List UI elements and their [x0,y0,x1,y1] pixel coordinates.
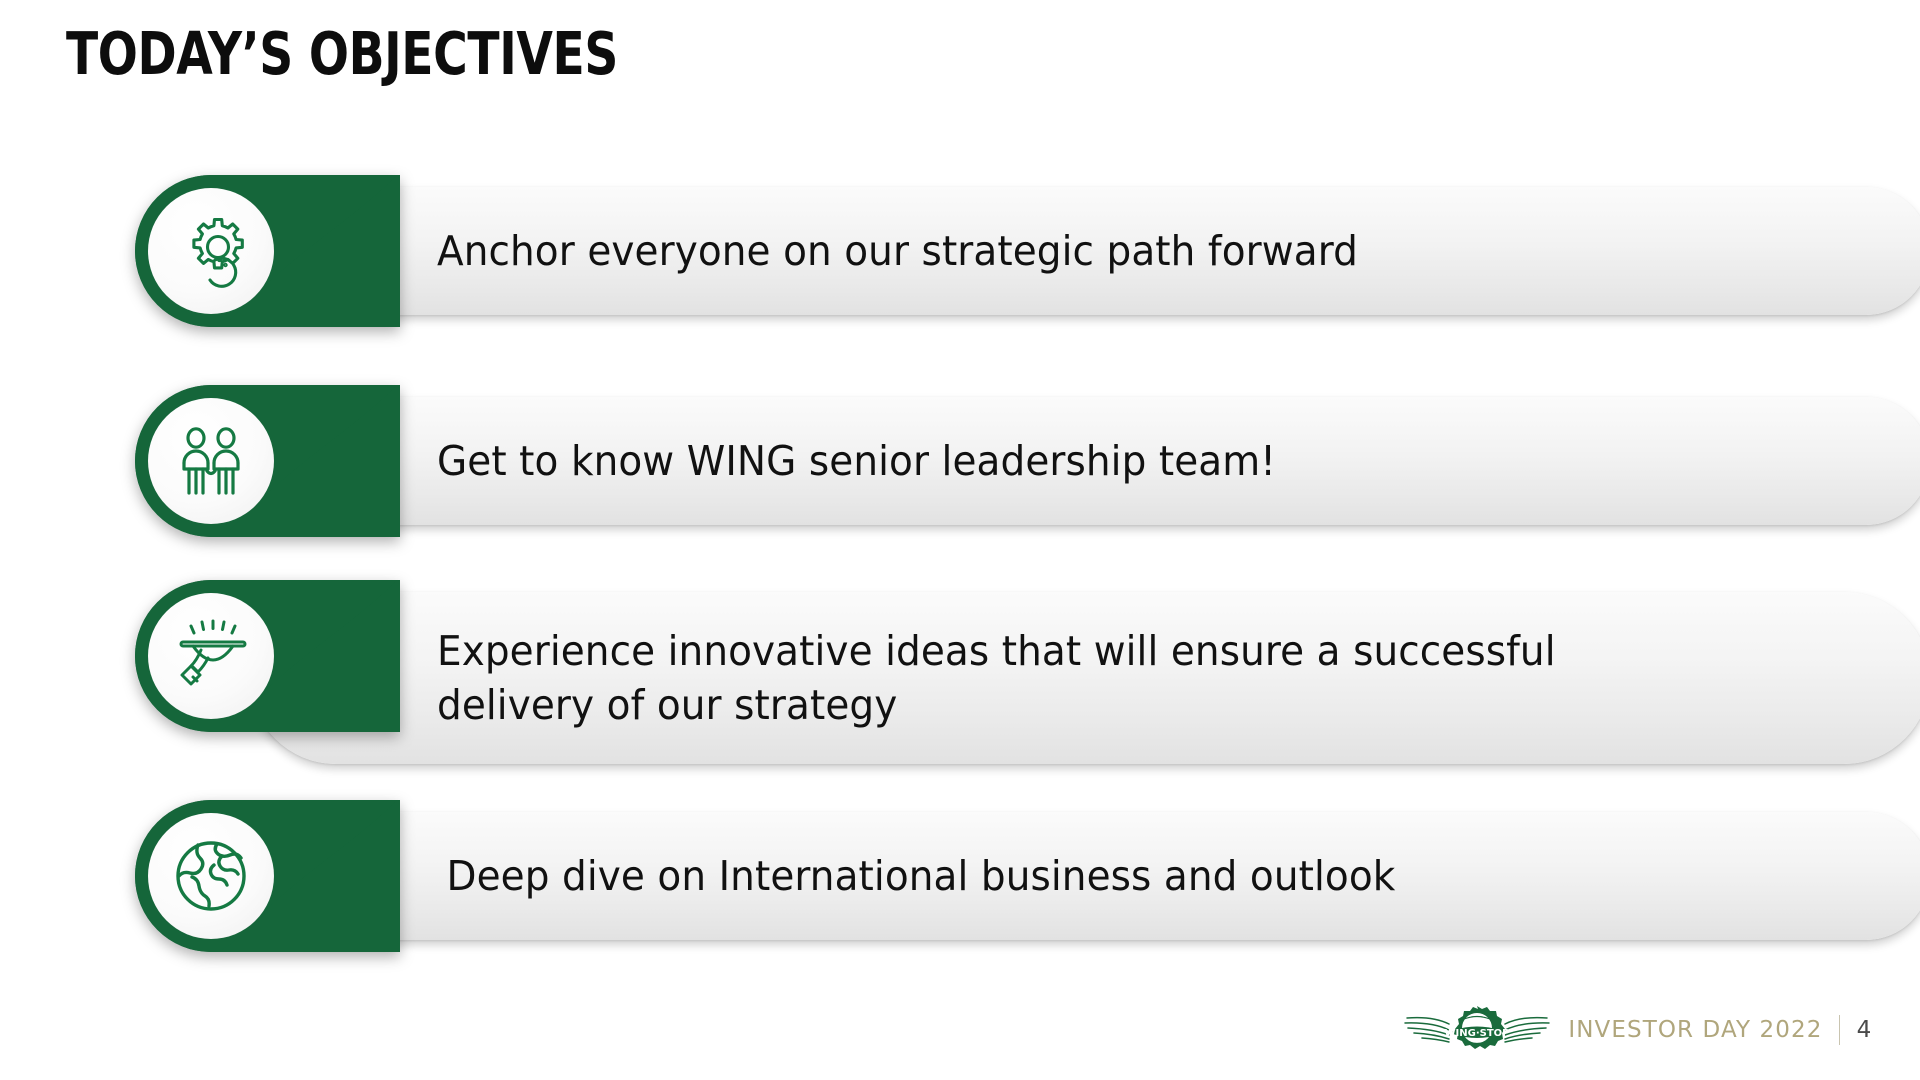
slide-footer: WING·STOP INVESTOR DAY 2022 4 [1402,1002,1872,1058]
wingstop-winged-logo: WING·STOP [1402,1002,1552,1058]
two-people-icon [171,421,251,501]
objective-text: Anchor everyone on our strategic path fo… [437,175,1701,327]
objective-text: Experience innovative ideas that will en… [437,580,1701,776]
objective-badge [148,813,274,939]
gear-icon [170,210,252,292]
objectives-list: Anchor everyone on our strategic path fo… [0,0,1920,1080]
objective-badge [148,188,274,314]
objective-badge [148,398,274,524]
globe-icon [170,835,252,917]
objective-text: Get to know WING senior leadership team! [437,385,1701,537]
page-number: 4 [1856,1017,1872,1043]
objective-text: Deep dive on International business and … [437,800,1710,952]
hand-serving-tray-icon [171,616,251,696]
investor-day-label: INVESTOR DAY 2022 [1568,1017,1822,1043]
wingstop-logo-text: WING·STOP [1445,1028,1510,1039]
objective-badge [148,593,274,719]
footer-divider [1839,1015,1841,1045]
